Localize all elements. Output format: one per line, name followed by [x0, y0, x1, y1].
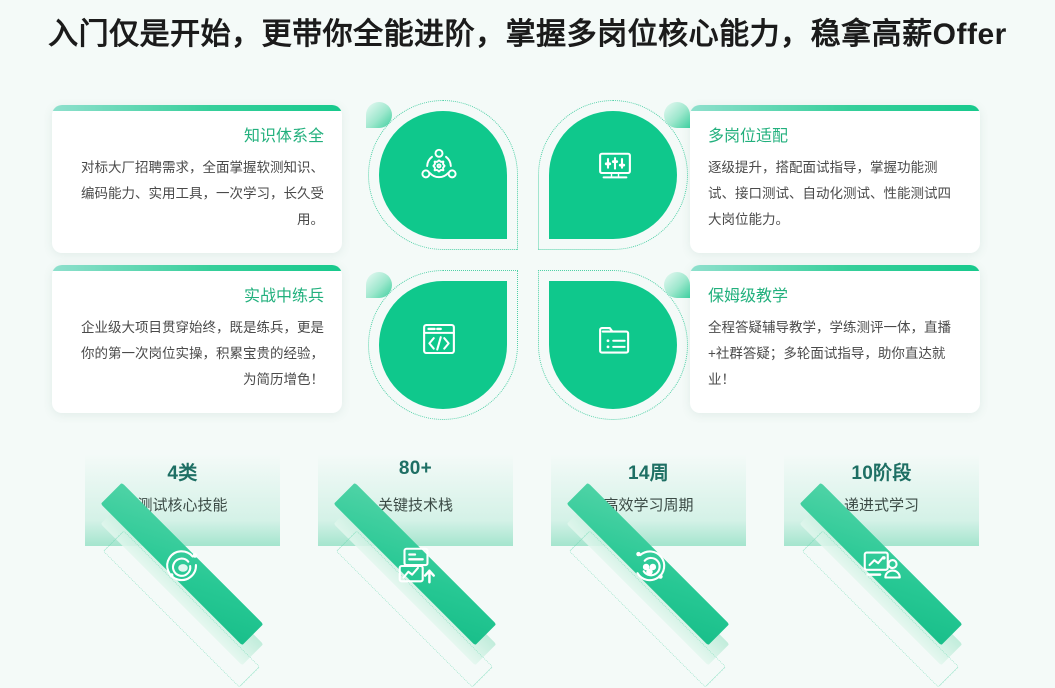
stat-label: 测试核心技能 [60, 494, 305, 515]
leaf-icon [366, 102, 392, 128]
petal-knowledge-system[interactable] [368, 100, 518, 250]
target-rings-icon [160, 543, 206, 589]
leaf-icon [664, 102, 690, 128]
presentation-person-icon [859, 543, 905, 589]
document-chart-upload-icon [393, 543, 439, 589]
code-window-icon [418, 318, 460, 360]
petal-practice[interactable] [368, 270, 518, 420]
feature-card-body: 逐级提升，搭配面试指导，掌握功能测试、接口测试、自动化测试、性能测试四大岗位能力… [708, 155, 962, 233]
feature-card-body: 全程答疑辅导教学，学练测评一体，直播+社群答疑；多轮面试指导，助你直达就业！ [708, 315, 962, 393]
leaf-icon [664, 272, 690, 298]
stat-label: 关键技术栈 [293, 494, 538, 515]
feature-card-multi-role[interactable]: 多岗位适配 逐级提升，搭配面试指导，掌握功能测试、接口测试、自动化测试、性能测试… [690, 105, 980, 253]
feature-card-title: 知识体系全 [70, 125, 324, 149]
stat-label: 递进式学习 [759, 494, 1004, 515]
clover-graphic [368, 100, 688, 420]
stat-number: 14周 [526, 458, 771, 485]
feature-card-title: 实战中练兵 [70, 285, 324, 309]
feature-card-nanny-teaching[interactable]: 保姆级教学 全程答疑辅导教学，学练测评一体，直播+社群答疑；多轮面试指导，助你直… [690, 265, 980, 413]
stat-item-core-skills[interactable]: 4类 测试核心技能 [60, 446, 305, 646]
feature-card-knowledge-system[interactable]: 知识体系全 对标大厂招聘需求，全面掌握软测知识、编码能力、实用工具，一次学习，长… [52, 105, 342, 253]
feature-card-title: 保姆级教学 [708, 285, 962, 309]
stat-item-stages[interactable]: 10阶段 递进式学习 [759, 446, 1004, 646]
feature-card-practice[interactable]: 实战中练兵 企业级大项目贯穿始终，既是练兵，更是你的第一次岗位实操，积累宝贵的经… [52, 265, 342, 413]
feature-card-body: 对标大厂招聘需求，全面掌握软测知识、编码能力、实用工具，一次学习，长久受用。 [70, 155, 324, 233]
folder-list-icon [594, 318, 636, 360]
orbit-molecule-icon [626, 543, 672, 589]
stat-label: 高效学习周期 [526, 494, 771, 515]
page-title: 入门仅是开始，更带你全能进阶，掌握多岗位核心能力，稳拿高薪Offer [0, 0, 1055, 70]
network-gear-icon [418, 145, 460, 187]
stat-number: 4类 [60, 458, 305, 485]
feature-card-body: 企业级大项目贯穿始终，既是练兵，更是你的第一次岗位实操，积累宝贵的经验，为简历增… [70, 315, 324, 393]
leaf-icon [366, 272, 392, 298]
feature-card-title: 多岗位适配 [708, 125, 962, 149]
stat-number: 80+ [293, 458, 538, 480]
stats-section: 4类 测试核心技能 80+ 关键技术栈 [0, 446, 1055, 646]
stat-item-study-cycle[interactable]: 14周 高效学习周期 [526, 446, 771, 646]
stat-item-tech-stack[interactable]: 80+ 关键技术栈 [293, 446, 538, 646]
monitor-sliders-icon [594, 145, 636, 187]
stat-number: 10阶段 [759, 458, 1004, 485]
